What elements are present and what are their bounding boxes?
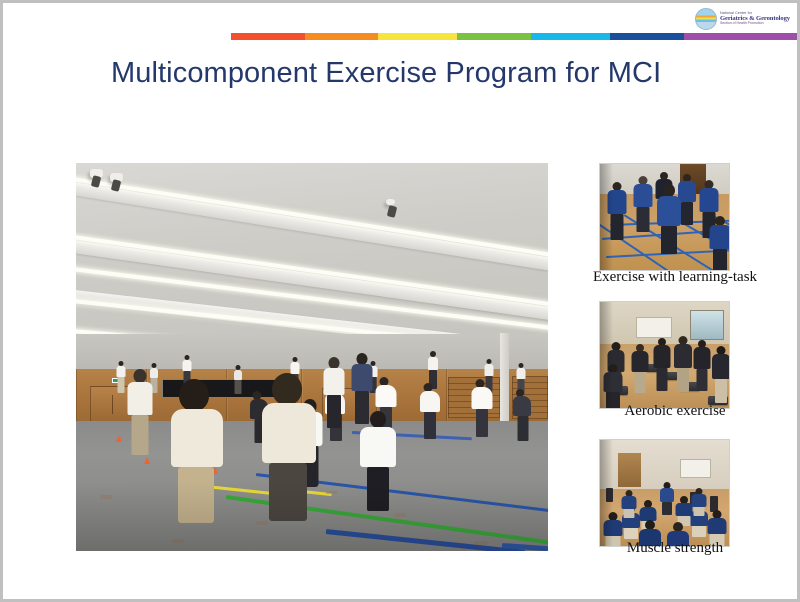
thumb-aerobic bbox=[599, 301, 730, 409]
person bbox=[712, 346, 729, 402]
ncgg-logo-icon bbox=[695, 8, 717, 30]
traffic-cone-icon bbox=[144, 457, 150, 464]
photo-shading bbox=[76, 481, 548, 551]
photo-shading bbox=[600, 302, 613, 408]
person-seated bbox=[708, 510, 726, 544]
person bbox=[352, 353, 372, 423]
caption-muscle-strength: Muscle strength bbox=[565, 540, 785, 557]
person-seated bbox=[676, 496, 692, 524]
caption-learning-task: Exercise with learning-task bbox=[565, 269, 785, 286]
rainbow-segment-0 bbox=[231, 33, 305, 40]
person-instructor bbox=[660, 482, 674, 514]
person bbox=[116, 361, 125, 393]
rainbow-segment-6 bbox=[684, 33, 797, 40]
window bbox=[690, 310, 724, 340]
logo-line-3: Section of Health Promotion bbox=[720, 22, 790, 26]
person bbox=[324, 357, 344, 427]
ncgg-logo-text: National Center for Geriatrics & Geronto… bbox=[720, 12, 790, 26]
person-exercising bbox=[514, 389, 532, 441]
traffic-cone-icon bbox=[116, 435, 122, 442]
page-title: Multicomponent Exercise Program for MCI bbox=[111, 57, 661, 90]
rainbow-segment-5 bbox=[610, 33, 684, 40]
whiteboard bbox=[636, 317, 672, 338]
rainbow-segment-4 bbox=[531, 33, 610, 40]
person-exercising bbox=[472, 379, 492, 437]
thumb-learning-task bbox=[599, 163, 730, 271]
caption-aerobic: Aerobic exercise bbox=[565, 403, 785, 420]
person bbox=[710, 216, 730, 268]
rainbow-divider bbox=[231, 33, 797, 40]
person bbox=[234, 365, 242, 394]
person-seated bbox=[622, 490, 636, 516]
person bbox=[632, 344, 648, 392]
person bbox=[694, 340, 710, 390]
rainbow-segment-3 bbox=[457, 33, 531, 40]
slide-header: National Center for Geriatrics & Geronto… bbox=[3, 3, 797, 45]
rainbow-segment-1 bbox=[305, 33, 379, 40]
main-exercise-photo bbox=[76, 163, 548, 551]
wall-door bbox=[618, 453, 641, 487]
thumb-muscle-strength bbox=[599, 439, 730, 547]
person bbox=[674, 336, 691, 390]
ceiling-spotlight bbox=[386, 199, 395, 205]
whiteboard bbox=[680, 459, 711, 478]
person bbox=[654, 338, 670, 390]
ceiling-spotlight bbox=[110, 173, 123, 182]
person bbox=[634, 176, 652, 230]
person-walking bbox=[128, 369, 152, 455]
ceiling-spotlight bbox=[90, 169, 103, 178]
rainbow-segment-2 bbox=[378, 33, 457, 40]
slide: National Center for Geriatrics & Geronto… bbox=[0, 0, 800, 602]
person-seated bbox=[692, 488, 706, 514]
photo-shading bbox=[600, 440, 613, 546]
ncgg-logo: National Center for Geriatrics & Geronto… bbox=[695, 5, 791, 33]
person-foreground bbox=[658, 184, 680, 252]
upper-wall bbox=[76, 334, 548, 373]
photo-shading bbox=[600, 164, 613, 270]
person-exercising bbox=[420, 383, 440, 439]
